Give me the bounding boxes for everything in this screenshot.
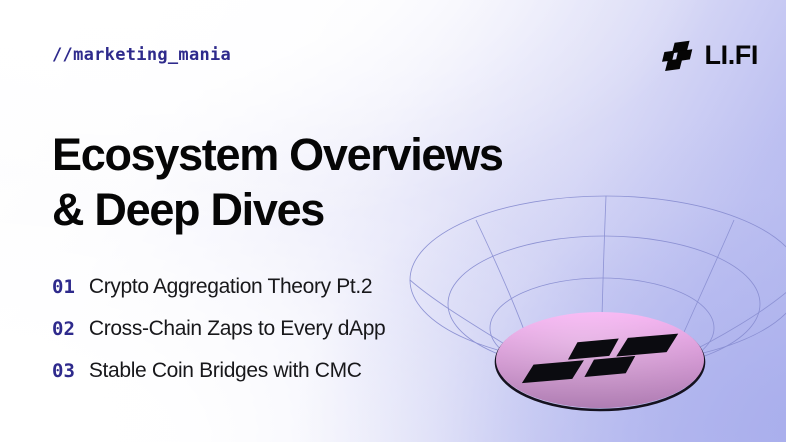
- page-title: Ecosystem Overviews & Deep Dives: [52, 128, 612, 238]
- brand-wordmark: LI.FI: [705, 42, 759, 69]
- list-item[interactable]: 03 Stable Coin Bridges with CMC: [52, 359, 532, 401]
- agenda-label: Stable Coin Bridges with CMC: [89, 359, 362, 383]
- list-item[interactable]: 02 Cross-Chain Zaps to Every dApp: [52, 317, 532, 359]
- lifi-logo-icon: [661, 38, 695, 72]
- brand-lockup: LI.FI: [661, 38, 759, 72]
- agenda-number: 01: [52, 276, 75, 298]
- list-item[interactable]: 01 Crypto Aggregation Theory Pt.2: [52, 275, 532, 317]
- agenda-number: 02: [52, 318, 75, 340]
- agenda-label: Cross-Chain Zaps to Every dApp: [89, 317, 385, 341]
- agenda-number: 03: [52, 360, 75, 382]
- slide-canvas: //marketing_mania LI.FI Ecosystem Overvi…: [0, 0, 786, 442]
- eyebrow-label: //marketing_mania: [52, 45, 231, 65]
- agenda-list: 01 Crypto Aggregation Theory Pt.2 02 Cro…: [52, 275, 532, 401]
- agenda-label: Crypto Aggregation Theory Pt.2: [89, 275, 372, 299]
